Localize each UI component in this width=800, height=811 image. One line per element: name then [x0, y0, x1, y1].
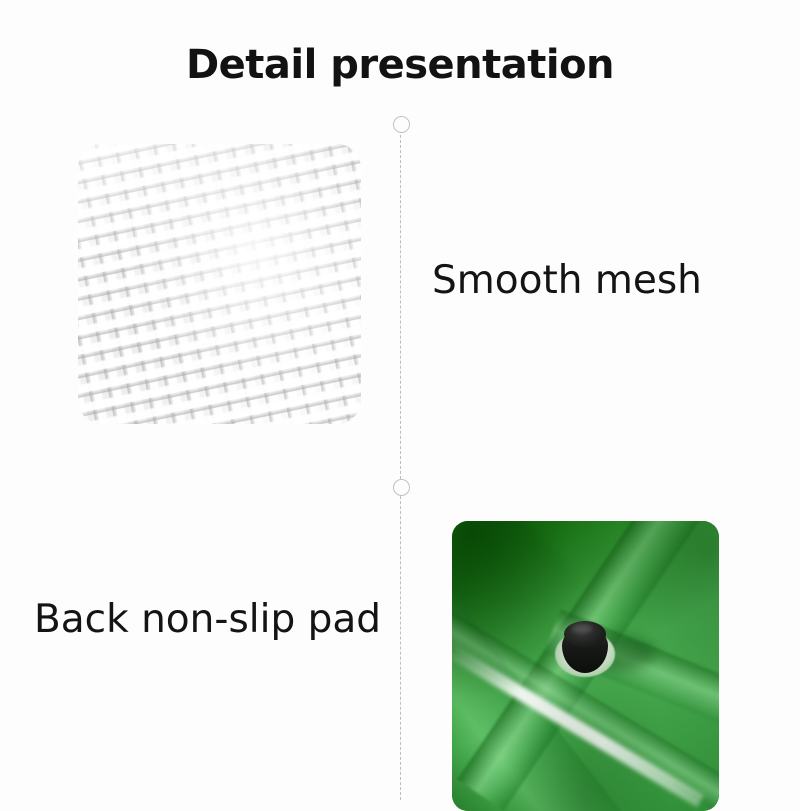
- dashed-connector: [400, 116, 402, 800]
- caption-smooth-mesh: Smooth mesh: [432, 258, 702, 303]
- rubber-foot-sheen: [572, 624, 592, 633]
- non-slip-pad-photo: [452, 521, 719, 811]
- detail-presentation-page: Detail presentation Smooth mesh Back non…: [0, 0, 800, 800]
- rubber-foot: [560, 621, 610, 677]
- connector-node-bottom: [393, 479, 410, 496]
- mesh-texture: [78, 144, 361, 424]
- connector-node-top: [393, 116, 410, 133]
- caption-back-non-slip-pad: Back non-slip pad: [34, 597, 381, 642]
- connector-dashed-line: [400, 130, 401, 800]
- smooth-mesh-photo: [78, 144, 361, 424]
- page-title: Detail presentation: [0, 42, 800, 88]
